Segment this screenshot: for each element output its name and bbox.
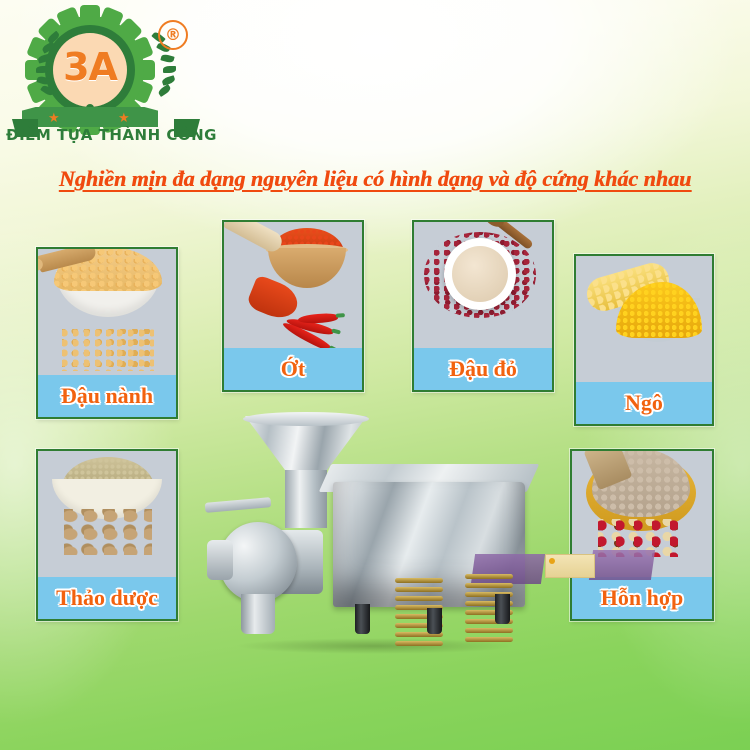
card-label-text: Hỗn hợp <box>601 585 684 611</box>
soybean-image <box>38 249 176 375</box>
brand-logo: 3A ★ ★ ® ĐIỂM TỰA THÀNH CÔNG <box>6 4 206 144</box>
material-card-hon-hop: Hỗn hợp <box>570 449 714 621</box>
poster-canvas: 3A ★ ★ ® ĐIỂM TỰA THÀNH CÔNG Nghiền mịn … <box>0 0 750 750</box>
card-label-text: Đậu nành <box>61 383 153 409</box>
card-label-strip: Ớt <box>224 348 362 390</box>
logo-banner: ★ ★ <box>22 107 158 127</box>
herb-image <box>38 451 176 577</box>
machine-hopper-rim <box>243 412 369 426</box>
grinder-machine-image <box>205 412 550 667</box>
material-card-ot: Ớt <box>222 220 364 392</box>
machine-side-arm <box>205 497 272 513</box>
machine-feed-neck <box>285 470 327 528</box>
machine-leg <box>495 594 510 624</box>
corn-image <box>576 256 712 382</box>
card-label-text: Thảo dược <box>56 585 158 611</box>
card-label-strip: Hỗn hợp <box>572 577 712 619</box>
star-icon: ★ <box>118 111 130 124</box>
card-label-text: Ớt <box>281 356 305 382</box>
machine-warning-label <box>545 554 595 578</box>
page-title: Nghiền mịn đa dạng nguyên liệu có hình d… <box>0 166 750 192</box>
machine-purple-film-left <box>471 554 545 584</box>
machine-purple-film-right <box>589 550 655 580</box>
machine-housing <box>333 482 525 607</box>
machine-leg <box>427 608 442 634</box>
card-label-strip: Đậu đỏ <box>414 348 552 390</box>
logo-wordmark: 3A <box>28 36 152 98</box>
card-label-strip: Thảo dược <box>38 577 176 619</box>
material-card-ngo: Ngô <box>574 254 714 426</box>
red-bean-image <box>414 222 552 348</box>
material-card-dau-nanh: Đậu nành <box>36 247 178 419</box>
brand-slogan: ĐIỂM TỰA THÀNH CÔNG <box>6 126 206 144</box>
machine-end-cap <box>207 540 233 580</box>
machine-leg <box>355 604 370 634</box>
star-icon: ★ <box>48 111 60 124</box>
material-card-dau-do: Đậu đỏ <box>412 220 554 392</box>
card-label-strip: Ngô <box>576 382 712 424</box>
card-label-strip: Đậu nành <box>38 375 176 417</box>
registered-trademark-icon: ® <box>158 20 188 50</box>
machine-discharge-spout <box>241 594 275 634</box>
material-card-thao-duoc: Thảo dược <box>36 449 178 621</box>
card-label-text: Ngô <box>625 390 663 416</box>
card-label-text: Đậu đỏ <box>449 356 517 382</box>
chili-image <box>224 222 362 348</box>
